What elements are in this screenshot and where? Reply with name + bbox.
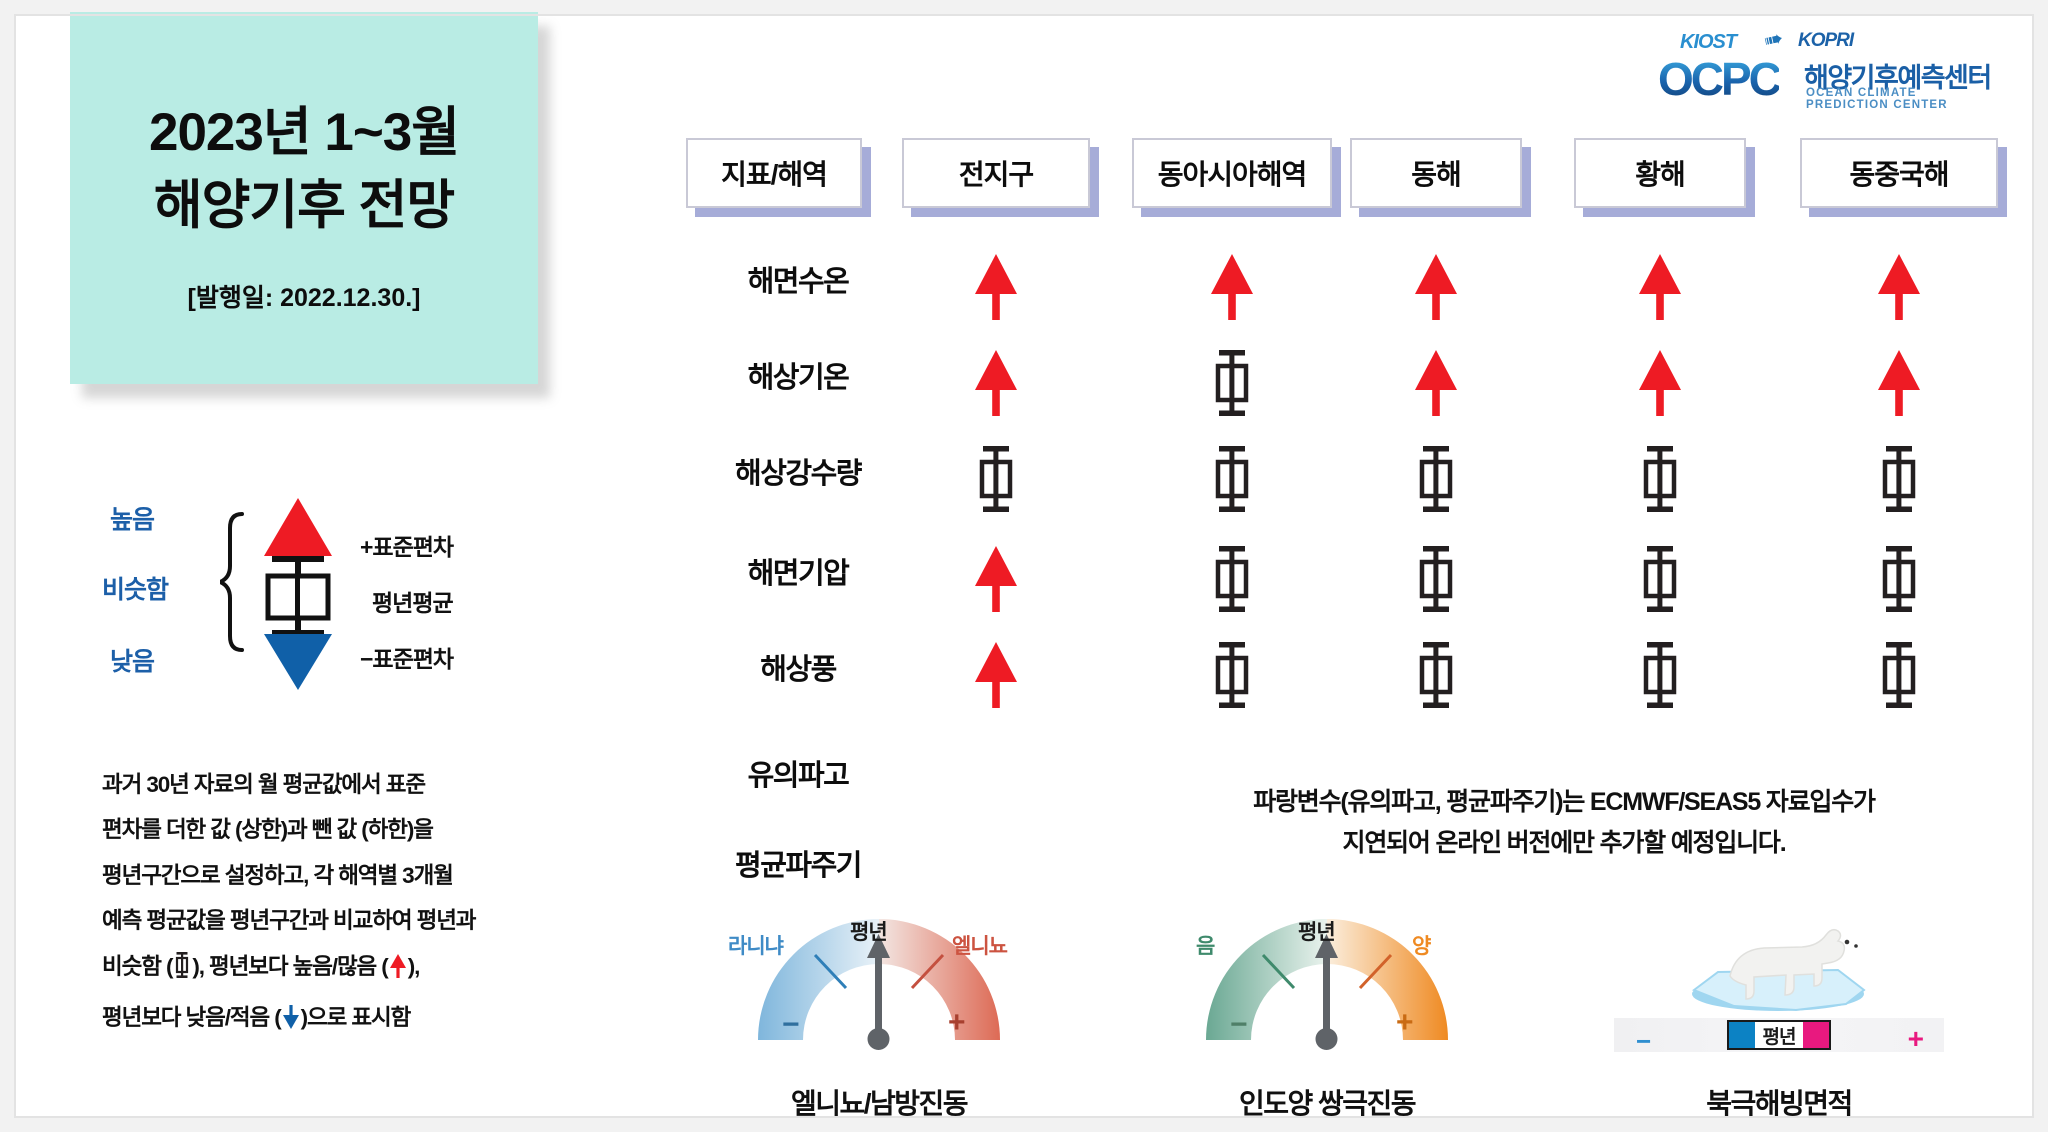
arctic-plus-sign: + bbox=[1908, 1023, 1924, 1055]
column-header-label: 전지구 bbox=[959, 153, 1033, 193]
infographic-page: 2023년 1~3월 해양기후 전망 [발행일: 2022.12.30.] KI… bbox=[0, 0, 2048, 1132]
desc-line-5a: 비슷함 ( bbox=[102, 954, 172, 979]
wave-note-line-2: 지연되어 온라인 버전에만 추가할 예정입니다. bbox=[1074, 823, 2048, 864]
forecast-cell bbox=[1408, 346, 1478, 424]
polar-bear-on-ice-icon bbox=[1678, 910, 1878, 1014]
forecast-cell bbox=[1871, 346, 1941, 424]
neutral-icon bbox=[1632, 442, 1688, 516]
legend-low-label: 낮음 bbox=[110, 642, 154, 678]
forecast-cell bbox=[1871, 542, 1941, 620]
column-header-label: 동아시아해역 bbox=[1158, 153, 1307, 193]
enso-right-label: 엘니뇨 bbox=[952, 930, 1007, 960]
neutral-icon bbox=[1871, 638, 1927, 712]
down-arrow-icon bbox=[281, 1001, 301, 1046]
kiost-wordmark: KIOST bbox=[1680, 31, 1736, 54]
iod-left-label: 음 bbox=[1196, 930, 1214, 960]
forecast-cell bbox=[1204, 250, 1274, 328]
forecast-cell bbox=[1408, 442, 1478, 520]
desc-line-5: 비슷함 (), 평년보다 높음/많음 (), bbox=[102, 944, 552, 995]
arctic-positive-swatch bbox=[1803, 1022, 1829, 1048]
publish-date: [발행일: 2022.12.30.] bbox=[188, 278, 421, 314]
neutral-icon bbox=[1871, 442, 1927, 516]
forecast-cell bbox=[1632, 638, 1702, 716]
forecast-cell bbox=[1871, 638, 1941, 716]
up-arrow-icon bbox=[1204, 250, 1260, 324]
ocpc-acronym: OCPC bbox=[1658, 52, 1779, 106]
arctic-minus-sign: − bbox=[1636, 1026, 1651, 1057]
enso-center-label: 평년 bbox=[850, 916, 887, 946]
forecast-cell bbox=[1871, 250, 1941, 328]
iod-minus-sign: − bbox=[1230, 1008, 1247, 1042]
column-header-5[interactable]: 동중국해 bbox=[1800, 138, 1998, 208]
row-label-3: 해면기압 bbox=[678, 550, 918, 592]
neutral-icon bbox=[1408, 638, 1464, 712]
row-label-0: 해면수온 bbox=[678, 258, 918, 300]
neutral-icon bbox=[1871, 542, 1927, 616]
neutral-icon bbox=[1632, 542, 1688, 616]
up-arrow-icon bbox=[1408, 250, 1464, 324]
iod-center-label: 평년 bbox=[1298, 916, 1335, 946]
column-header-2[interactable]: 동아시아해역 bbox=[1132, 138, 1332, 208]
column-header-label: 동중국해 bbox=[1849, 153, 1948, 193]
enso-minus-sign: − bbox=[782, 1008, 799, 1042]
row-label-1: 해상기온 bbox=[678, 354, 918, 396]
desc-line-6a: 평년보다 낮음/적음 ( bbox=[102, 1005, 281, 1030]
neutral-icon bbox=[1204, 346, 1260, 420]
forecast-cell bbox=[968, 638, 1038, 716]
neutral-icon bbox=[1204, 542, 1260, 616]
legend-plus-sd-label: +표준편차 bbox=[360, 528, 453, 562]
title-line-2: 해양기후 전망 bbox=[154, 169, 454, 242]
forecast-cell bbox=[1408, 250, 1478, 328]
legend-minus-sd-label: −표준편차 bbox=[360, 640, 453, 674]
column-header-4[interactable]: 황해 bbox=[1574, 138, 1746, 208]
ocpc-logo: KIOST ➠ KOPRI OCPC 해양기후예측센터 OCEAN CLIMAT… bbox=[1658, 30, 1998, 104]
legend-similar-label: 비슷함 bbox=[102, 570, 168, 606]
legend-symbol-diagram bbox=[220, 492, 350, 692]
arctic-normal-marker: 평년 bbox=[1727, 1020, 1832, 1050]
desc-line-5b: ), 평년보다 높음/많음 ( bbox=[192, 954, 387, 979]
title-card: 2023년 1~3월 해양기후 전망 [발행일: 2022.12.30.] bbox=[70, 12, 538, 384]
forecast-cell bbox=[968, 250, 1038, 328]
forecast-cell bbox=[1632, 442, 1702, 520]
forecast-cell bbox=[1632, 542, 1702, 620]
forecast-cell bbox=[1204, 346, 1274, 424]
iod-plus-sign: + bbox=[1396, 1006, 1413, 1040]
neutral-icon bbox=[1204, 442, 1260, 516]
column-header-3[interactable]: 동해 bbox=[1350, 138, 1522, 208]
column-header-1[interactable]: 전지구 bbox=[902, 138, 1090, 208]
enso-left-label: 라니냐 bbox=[728, 930, 783, 960]
row-label-5: 유의파고 bbox=[678, 752, 918, 794]
arctic-scale-bar: 평년 bbox=[1614, 1018, 1944, 1052]
forecast-cell bbox=[968, 542, 1038, 620]
neutral-icon bbox=[1204, 638, 1260, 712]
legend-high-label: 높음 bbox=[110, 500, 154, 536]
column-header-label: 황해 bbox=[1635, 153, 1685, 193]
forecast-cell bbox=[1204, 638, 1274, 716]
desc-line-1: 과거 30년 자료의 월 평균값에서 표준 bbox=[102, 762, 552, 807]
up-arrow-icon bbox=[968, 250, 1024, 324]
neutral-icon bbox=[1408, 542, 1464, 616]
row-label-6: 평균파주기 bbox=[678, 842, 918, 884]
index-arctic-sea-ice: 평년 − + 북극해빙면적 bbox=[1614, 914, 1944, 1114]
arctic-negative-swatch bbox=[1729, 1022, 1755, 1048]
iod-caption: 인도양 쌍극진동 bbox=[1162, 1082, 1492, 1122]
forecast-cell bbox=[1871, 442, 1941, 520]
forecast-cell bbox=[1408, 638, 1478, 716]
desc-line-6: 평년보다 낮음/적음 ()으로 표시함 bbox=[102, 995, 552, 1046]
neutral-icon bbox=[1632, 638, 1688, 712]
up-arrow-icon bbox=[968, 638, 1024, 712]
up-arrow-icon bbox=[1871, 250, 1927, 324]
desc-line-6b: )으로 표시함 bbox=[301, 1005, 411, 1030]
index-iod: 음 평년 양 − + 인도양 쌍극진동 bbox=[1162, 914, 1492, 1114]
logo-main-row: OCPC 해양기후예측센터 OCEAN CLIMATE PREDICTION C… bbox=[1658, 54, 1998, 104]
up-arrow-icon bbox=[968, 346, 1024, 420]
desc-line-5c: ), bbox=[408, 954, 420, 979]
forecast-cell bbox=[1632, 250, 1702, 328]
kopri-wordmark: KOPRI bbox=[1798, 30, 1853, 52]
enso-caption: 엘니뇨/남방진동 bbox=[714, 1082, 1044, 1122]
up-arrow-icon bbox=[1632, 250, 1688, 324]
up-arrow-icon bbox=[388, 950, 408, 995]
ocpc-name-english: OCEAN CLIMATE PREDICTION CENTER bbox=[1806, 87, 1998, 111]
index-enso: 라니냐 평년 엘니뇨 − + 엘니뇨/남방진동 bbox=[714, 914, 1044, 1114]
row-label-2: 해상강수량 bbox=[678, 450, 918, 492]
forecast-cell bbox=[968, 442, 1038, 520]
row-label-4: 해상풍 bbox=[678, 646, 918, 688]
forecast-cell bbox=[1204, 442, 1274, 520]
arctic-center-label: 평년 bbox=[1755, 1022, 1804, 1048]
logo-top-row: KIOST ➠ KOPRI bbox=[1658, 30, 1998, 54]
iod-right-label: 양 bbox=[1412, 930, 1430, 960]
forecast-cell bbox=[1408, 542, 1478, 620]
title-line-1: 2023년 1~3월 bbox=[149, 96, 459, 169]
method-description: 과거 30년 자료의 월 평균값에서 표준 편차를 더한 값 (상한)과 뺀 값… bbox=[102, 762, 552, 1047]
column-header-label: 지표/해역 bbox=[721, 153, 827, 193]
up-arrow-icon bbox=[1408, 346, 1464, 420]
desc-line-3: 평년구간으로 설정하고, 각 해역별 3개월 bbox=[102, 853, 552, 898]
legend-mean-label: 평년평균 bbox=[372, 584, 453, 618]
forecast-cell bbox=[1632, 346, 1702, 424]
symbol-legend: 높음 비슷함 낮음 +표준편차 평년평균 −표준편차 bbox=[110, 492, 530, 692]
forecast-cell bbox=[1204, 542, 1274, 620]
desc-line-4: 예측 평균값을 평년구간과 비교하여 평년과 bbox=[102, 898, 552, 943]
arctic-caption: 북극해빙면적 bbox=[1614, 1082, 1944, 1122]
wave-note-line-1: 파랑변수(유의파고, 평균파주기)는 ECMWF/SEAS5 자료입수가 bbox=[1074, 782, 2048, 823]
up-arrow-icon bbox=[1871, 346, 1927, 420]
forecast-cell bbox=[968, 346, 1038, 424]
column-header-label: 동해 bbox=[1411, 153, 1461, 193]
desc-line-2: 편차를 더한 값 (상한)과 뺀 값 (하한)을 bbox=[102, 807, 552, 852]
neutral-icon bbox=[968, 442, 1024, 516]
wave-variable-note: 파랑변수(유의파고, 평균파주기)는 ECMWF/SEAS5 자료입수가 지연되… bbox=[1074, 782, 2048, 863]
up-arrow-icon bbox=[968, 542, 1024, 616]
neutral-icon bbox=[1408, 442, 1464, 516]
up-arrow-icon bbox=[1632, 346, 1688, 420]
bird-icon: ➠ bbox=[1761, 24, 1785, 54]
column-header-0[interactable]: 지표/해역 bbox=[686, 138, 862, 208]
enso-plus-sign: + bbox=[948, 1006, 965, 1040]
neutral-icon bbox=[172, 950, 192, 995]
